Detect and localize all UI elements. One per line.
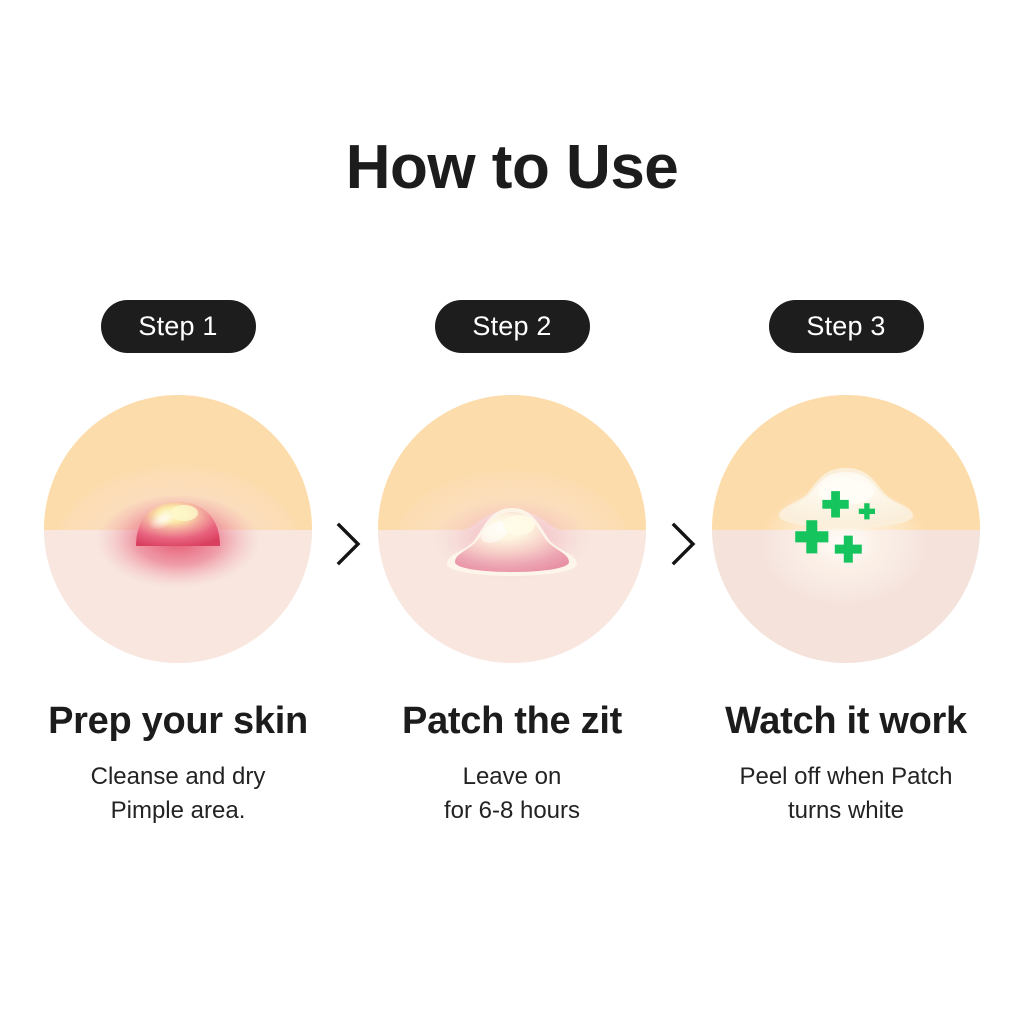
step-body-1: Cleanse and dry Pimple area. (91, 760, 266, 830)
step-illustration-3 (711, 394, 981, 664)
step-body-line-1: Peel off when Patch (739, 760, 952, 795)
step-heading-1: Prep your skin (48, 700, 308, 743)
step-card-1: Step 1 (11, 300, 345, 829)
step-body-line-1: Cleanse and dry (91, 760, 266, 795)
step-card-3: Step 3 (679, 300, 1013, 829)
step-body-3: Peel off when Patch turns white (739, 760, 952, 830)
step-badge-1: Step 1 (101, 300, 256, 353)
step-body-2: Leave on for 6-8 hours (444, 760, 580, 830)
how-to-use-infographic: How to Use Step 1 (0, 0, 1024, 1024)
step-body-line-1: Leave on (444, 760, 580, 795)
chevron-right-icon (332, 519, 366, 569)
steps-row: Step 1 (0, 300, 1024, 829)
step-badge-2: Step 2 (435, 300, 590, 353)
step-body-line-2: for 6-8 hours (444, 794, 580, 829)
step-card-2: Step 2 (345, 300, 679, 829)
step-heading-3: Watch it work (725, 700, 967, 743)
chevron-right-icon (667, 519, 701, 569)
step-badge-3: Step 3 (769, 300, 924, 353)
step-body-line-2: Pimple area. (91, 794, 266, 829)
step-illustration-1 (43, 394, 313, 664)
step-body-line-2: turns white (739, 794, 952, 829)
step-illustration-2 (377, 394, 647, 664)
step-heading-2: Patch the zit (402, 700, 622, 743)
page-title: How to Use (0, 134, 1024, 202)
